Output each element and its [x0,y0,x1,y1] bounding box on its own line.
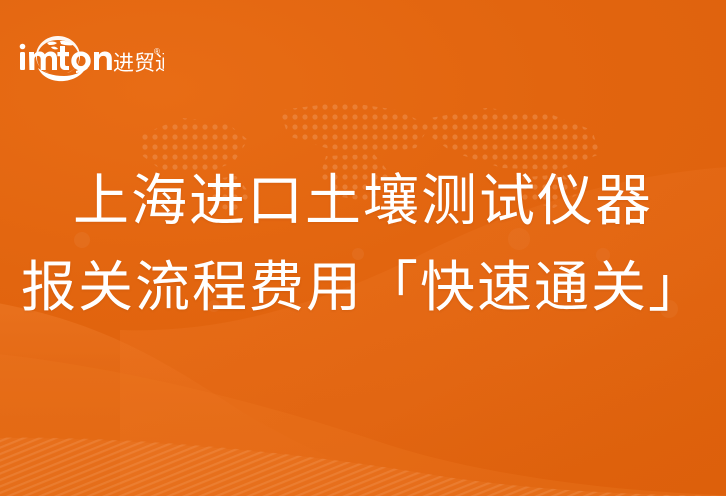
headline-line-1: 上海进口土壤测试仪器 [0,158,726,244]
logo-artwork: 进贸通 ® [14,24,164,86]
trademark-symbol: ® [154,47,160,56]
wordmark-imton [20,44,112,71]
banner-canvas: 进贸通 ® 上海进口土壤测试仪器 报关流程费用「快速通关」 [0,0,726,496]
headline-line-2: 报关流程费用「快速通关」 [0,244,726,330]
brand-logo: 进贸通 ® [14,24,164,86]
headline-block: 上海进口土壤测试仪器 报关流程费用「快速通关」 [0,158,726,330]
